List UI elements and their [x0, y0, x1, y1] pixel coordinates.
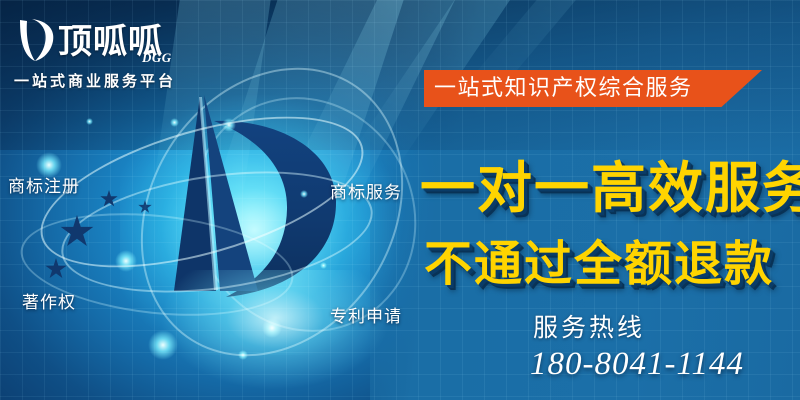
- ribbon-text: 一站式知识产权综合服务: [434, 78, 693, 100]
- brand-latin-name: DGG: [142, 50, 172, 66]
- leaf-wing-logo-icon: [14, 16, 60, 64]
- service-label-trademark-registration: 商标注册: [8, 172, 80, 197]
- glow-dot: [262, 318, 282, 338]
- headline-secondary: 不通过全额退款: [424, 224, 774, 294]
- brand-logo[interactable]: 顶呱呱 DGG 一站式商业服务平台: [8, 12, 188, 92]
- brand-tagline: 一站式商业服务平台: [14, 70, 176, 91]
- hotline-label: 服务热线: [533, 308, 645, 344]
- glow-dot: [86, 118, 93, 125]
- headline-ribbon: 一站式知识产权综合服务: [424, 70, 762, 107]
- headline-primary: 一对一高效服务: [420, 143, 800, 223]
- glow-dot: [222, 118, 236, 132]
- glow-dot: [238, 350, 248, 360]
- glow-dot: [115, 250, 137, 272]
- promo-banner: 顶呱呱 DGG 一站式商业服务平台 商标注册 商标服务 著作权 专利申请 一站式…: [0, 0, 800, 400]
- service-label-trademark-service: 商标服务: [330, 178, 402, 203]
- service-label-copyright: 著作权: [22, 288, 76, 313]
- glow-dot: [320, 262, 327, 269]
- glow-dot: [300, 190, 308, 198]
- glow-dot: [170, 118, 179, 127]
- glow-dot: [148, 330, 178, 360]
- hotline-number[interactable]: 180-8041-1144: [530, 346, 744, 383]
- service-label-patent-application: 专利申请: [330, 302, 402, 327]
